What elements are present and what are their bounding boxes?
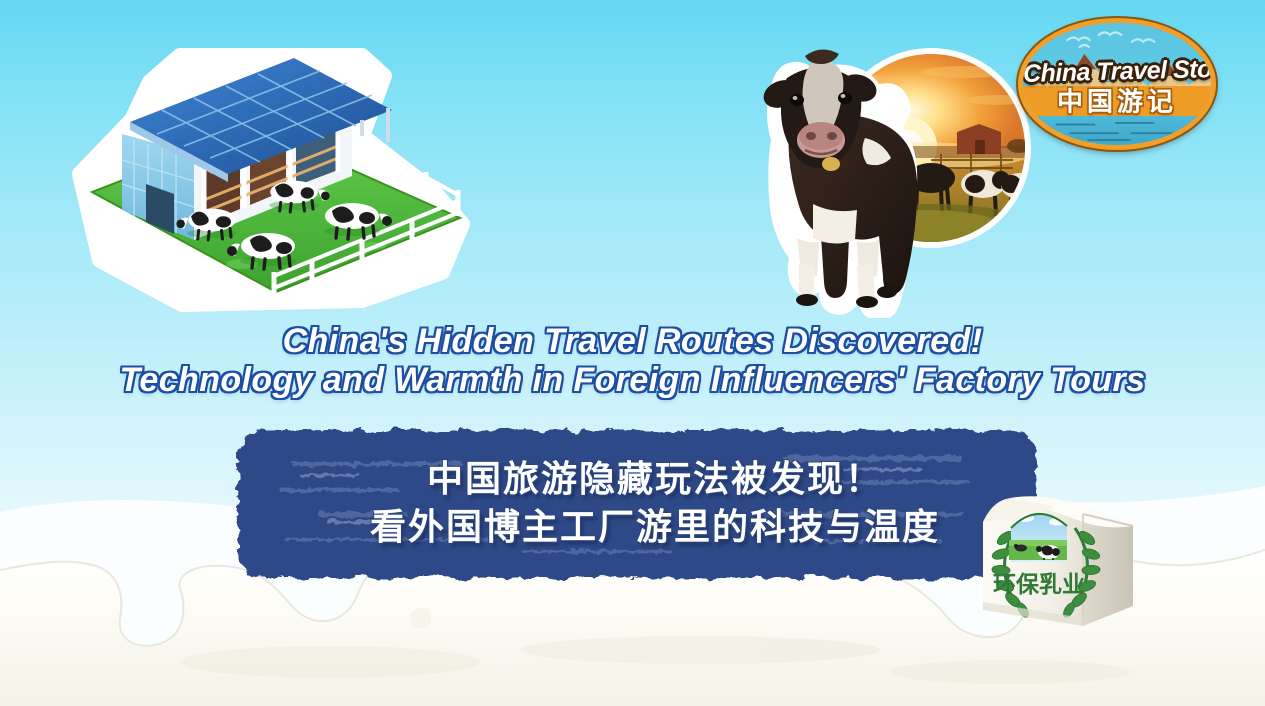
- banner-text-block: 中国旅游隐藏玩法被发现！ 看外国博主工厂游里的科技与温度: [222, 416, 1052, 592]
- chinese-headline-line2: 看外国博主工厂游里的科技与温度: [370, 507, 940, 549]
- cow-photo-group: [735, 28, 1035, 318]
- english-title-line1: China's Hidden Travel Routes Discovered!: [0, 322, 1265, 361]
- holstein-cow-cutout-photo: [759, 49, 917, 318]
- logo-disc: China Travel Story 中国游记: [1018, 18, 1216, 150]
- solar-panel-dairy-farm-illustration: [62, 24, 492, 314]
- thumbnail-canvas: China's Hidden Travel Routes Discovered!…: [0, 0, 1265, 706]
- chinese-headline-line1: 中国旅游隐藏玩法被发现！: [427, 459, 883, 501]
- carton-label-text: 环保乳业: [993, 571, 1085, 598]
- water-waves-icon: [1023, 116, 1211, 145]
- milk-carton-icon: 环保乳业: [965, 470, 1150, 645]
- chinese-headline-banner: 中国旅游隐藏玩法被发现！ 看外国博主工厂游里的科技与温度: [222, 416, 1052, 592]
- logo-water: [1023, 116, 1211, 145]
- english-title-line2: Technology and Warmth in Foreign Influen…: [0, 361, 1265, 400]
- milk-droplet: [410, 608, 431, 628]
- birds-icon: [1023, 28, 1211, 52]
- channel-logo[interactable]: China Travel Story 中国游记: [1018, 18, 1216, 150]
- logo-chinese-text: 中国游记: [1023, 81, 1211, 118]
- english-title: China's Hidden Travel Routes Discovered!…: [0, 322, 1265, 400]
